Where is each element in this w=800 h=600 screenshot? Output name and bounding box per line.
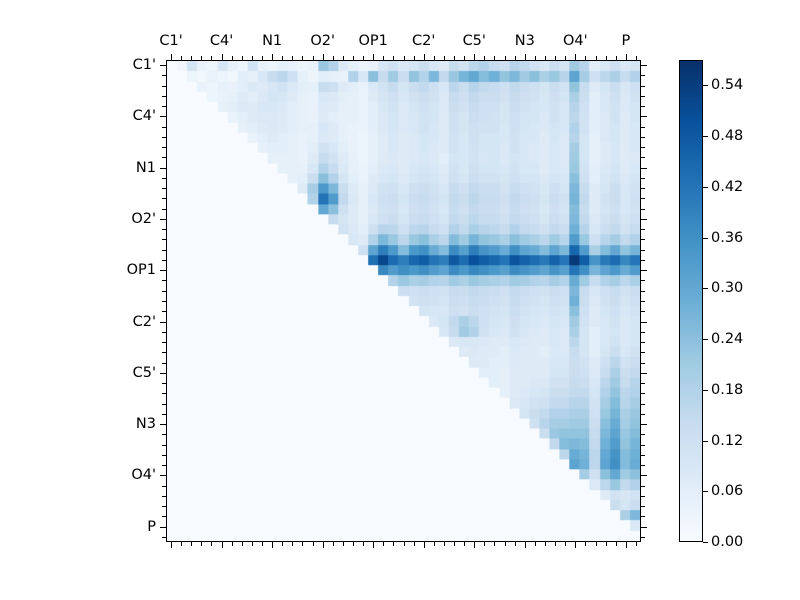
x-tick: [414, 542, 415, 546]
y-tick: [641, 516, 645, 517]
x-tick: [585, 542, 586, 546]
x-tick: [444, 56, 445, 60]
x-tick-label: C1': [159, 33, 182, 49]
x-tick: [323, 54, 324, 60]
y-tick-label: C5': [0, 365, 156, 381]
x-tick: [211, 542, 212, 546]
colorbar-tick: [703, 85, 708, 86]
x-tick: [252, 542, 253, 546]
x-tick: [565, 542, 566, 546]
y-tick: [641, 229, 645, 230]
x-tick-label: C4': [210, 33, 233, 49]
y-tick: [641, 188, 645, 189]
x-tick: [464, 56, 465, 60]
y-tick: [162, 383, 166, 384]
x-tick: [575, 54, 576, 60]
colorbar-tick-label: 0.54: [711, 77, 743, 93]
x-tick: [232, 56, 233, 60]
y-tick: [641, 157, 645, 158]
y-tick: [162, 147, 166, 148]
x-tick: [545, 56, 546, 60]
x-tick: [596, 542, 597, 546]
y-tick: [160, 373, 166, 374]
colorbar[interactable]: [679, 60, 703, 542]
x-tick: [596, 56, 597, 60]
y-tick: [162, 96, 166, 97]
y-tick: [641, 280, 645, 281]
x-tick: [636, 56, 637, 60]
y-tick: [641, 96, 645, 97]
y-tick-label: C4': [0, 108, 156, 124]
y-tick: [641, 455, 645, 456]
x-tick: [171, 542, 172, 548]
y-tick: [641, 86, 645, 87]
x-tick: [535, 56, 536, 60]
x-tick: [505, 542, 506, 546]
y-tick: [641, 260, 645, 261]
y-tick: [641, 475, 647, 476]
y-tick: [160, 527, 166, 528]
x-tick: [191, 542, 192, 546]
y-tick-label: N1: [0, 160, 156, 176]
x-tick-label: N1: [262, 33, 282, 49]
colorbar-tick: [703, 187, 708, 188]
y-tick: [641, 147, 645, 148]
y-tick: [162, 301, 166, 302]
x-tick: [201, 56, 202, 60]
x-tick: [333, 542, 334, 546]
x-tick: [343, 542, 344, 546]
y-tick: [641, 270, 647, 271]
x-tick: [404, 56, 405, 60]
y-tick: [641, 106, 645, 107]
y-tick-label: P: [0, 519, 156, 535]
y-tick: [162, 352, 166, 353]
y-tick: [162, 496, 166, 497]
colorbar-tick: [703, 390, 708, 391]
x-tick: [353, 56, 354, 60]
x-tick: [353, 542, 354, 546]
y-tick: [160, 116, 166, 117]
y-tick: [641, 209, 645, 210]
colorbar-tick-label: 0.48: [711, 128, 743, 144]
y-tick: [162, 75, 166, 76]
y-tick: [162, 127, 166, 128]
x-tick: [414, 56, 415, 60]
y-tick: [641, 332, 645, 333]
x-tick-label: C2': [412, 33, 435, 49]
y-tick: [162, 486, 166, 487]
colorbar-tick-label: 0.42: [711, 179, 743, 195]
y-tick: [641, 198, 645, 199]
colorbar-tick: [703, 288, 708, 289]
x-tick: [282, 542, 283, 546]
colorbar-tick-label: 0.06: [711, 483, 743, 499]
y-tick: [162, 209, 166, 210]
x-tick: [434, 56, 435, 60]
y-tick: [641, 127, 645, 128]
x-tick: [363, 542, 364, 546]
y-tick: [641, 322, 647, 323]
colorbar-tick: [703, 441, 708, 442]
y-tick: [162, 291, 166, 292]
y-tick: [641, 527, 647, 528]
y-tick-label: O2': [0, 211, 156, 227]
x-tick: [211, 56, 212, 60]
y-tick: [162, 404, 166, 405]
x-tick: [363, 56, 364, 60]
y-tick: [641, 465, 645, 466]
x-tick: [555, 542, 556, 546]
y-tick: [162, 516, 166, 517]
x-tick: [343, 56, 344, 60]
x-tick: [555, 56, 556, 60]
y-tick: [162, 178, 166, 179]
x-tick: [606, 56, 607, 60]
x-tick: [626, 542, 627, 548]
y-tick: [641, 219, 647, 220]
y-tick: [162, 157, 166, 158]
x-tick: [585, 56, 586, 60]
x-tick: [282, 56, 283, 60]
y-tick: [641, 373, 647, 374]
y-tick: [160, 270, 166, 271]
x-tick: [272, 54, 273, 60]
x-tick: [272, 542, 273, 548]
y-tick: [641, 393, 645, 394]
x-tick: [424, 542, 425, 548]
x-tick: [373, 54, 374, 60]
x-tick: [333, 56, 334, 60]
x-tick-label: O2': [310, 33, 335, 49]
y-tick: [162, 434, 166, 435]
x-tick: [424, 54, 425, 60]
x-tick-label: N3: [515, 33, 535, 49]
x-tick: [171, 54, 172, 60]
y-tick: [641, 291, 645, 292]
y-tick: [641, 404, 645, 405]
x-tick: [484, 542, 485, 546]
x-tick: [494, 56, 495, 60]
y-tick: [160, 424, 166, 425]
y-tick-label: N3: [0, 416, 156, 432]
y-tick: [162, 342, 166, 343]
y-tick: [162, 445, 166, 446]
colorbar-tick-label: 0.18: [711, 382, 743, 398]
y-tick: [641, 414, 645, 415]
colorbar-tick-label: 0.24: [711, 331, 743, 347]
x-tick: [525, 542, 526, 548]
x-tick: [515, 542, 516, 546]
y-tick-label: C2': [0, 314, 156, 330]
colorbar-tick: [703, 491, 708, 492]
x-tick: [545, 542, 546, 546]
heatmap-axes[interactable]: [166, 60, 641, 542]
colorbar-tick-label: 0.00: [711, 534, 743, 550]
y-tick: [641, 496, 645, 497]
colorbar-tick-label: 0.12: [711, 433, 743, 449]
y-tick: [641, 506, 645, 507]
y-tick-label: C1': [0, 57, 156, 73]
x-tick: [565, 56, 566, 60]
x-tick: [616, 542, 617, 546]
x-tick-label: OP1: [358, 33, 387, 49]
x-tick: [606, 542, 607, 546]
x-tick: [302, 56, 303, 60]
y-tick: [641, 250, 645, 251]
x-tick: [515, 56, 516, 60]
x-tick: [454, 542, 455, 546]
y-tick: [160, 168, 166, 169]
x-tick-label: O4': [563, 33, 588, 49]
x-tick: [484, 56, 485, 60]
x-tick: [494, 542, 495, 546]
y-tick: [162, 363, 166, 364]
y-tick: [641, 352, 645, 353]
x-tick: [383, 542, 384, 546]
figure-canvas: C1'C4'N1O2'OP1C2'C5'N3O4'P C1'C4'N1O2'OP…: [0, 0, 800, 600]
colorbar-tick: [703, 542, 708, 543]
y-tick: [641, 383, 645, 384]
x-tick: [252, 56, 253, 60]
x-tick: [323, 542, 324, 548]
y-tick: [641, 311, 645, 312]
x-tick: [464, 542, 465, 546]
y-tick: [641, 239, 645, 240]
x-tick-label: C5': [463, 33, 486, 49]
colorbar-tick: [703, 136, 708, 137]
y-tick: [641, 168, 647, 169]
x-tick: [222, 542, 223, 548]
x-tick: [232, 542, 233, 546]
x-tick: [313, 542, 314, 546]
x-tick: [222, 54, 223, 60]
y-tick: [641, 301, 645, 302]
x-tick: [313, 56, 314, 60]
y-tick: [162, 465, 166, 466]
y-tick-label: O4': [0, 467, 156, 483]
y-tick: [641, 178, 645, 179]
x-tick: [505, 56, 506, 60]
x-tick: [292, 56, 293, 60]
y-tick: [162, 188, 166, 189]
y-tick: [162, 537, 166, 538]
y-tick: [641, 65, 647, 66]
x-tick: [444, 542, 445, 546]
y-tick: [162, 239, 166, 240]
x-tick: [575, 542, 576, 548]
y-tick: [160, 475, 166, 476]
y-tick: [162, 455, 166, 456]
x-tick: [636, 542, 637, 546]
y-tick: [162, 106, 166, 107]
y-tick: [162, 332, 166, 333]
y-tick: [162, 506, 166, 507]
y-tick: [162, 229, 166, 230]
x-tick: [262, 56, 263, 60]
y-tick-label: OP1: [0, 262, 156, 278]
y-tick: [162, 198, 166, 199]
heatmap-grid[interactable]: [167, 61, 640, 541]
x-tick: [474, 542, 475, 548]
y-tick: [160, 219, 166, 220]
y-tick: [160, 65, 166, 66]
x-tick: [535, 542, 536, 546]
y-tick: [162, 86, 166, 87]
y-tick: [641, 424, 647, 425]
x-tick: [292, 542, 293, 546]
x-tick: [373, 542, 374, 548]
y-tick: [162, 280, 166, 281]
y-tick: [641, 486, 645, 487]
x-tick: [242, 542, 243, 546]
y-tick: [641, 445, 645, 446]
colorbar-tick: [703, 339, 708, 340]
colorbar-tick: [703, 238, 708, 239]
y-tick: [160, 322, 166, 323]
x-tick: [383, 56, 384, 60]
x-tick: [262, 542, 263, 546]
x-tick: [393, 56, 394, 60]
colorbar-tick-label: 0.30: [711, 280, 743, 296]
y-tick: [641, 434, 645, 435]
y-tick: [641, 363, 645, 364]
x-tick: [181, 56, 182, 60]
x-tick: [191, 56, 192, 60]
x-tick: [474, 54, 475, 60]
y-tick: [641, 342, 645, 343]
y-tick: [162, 311, 166, 312]
y-tick: [162, 414, 166, 415]
y-tick: [162, 137, 166, 138]
x-tick: [181, 542, 182, 546]
x-tick: [242, 56, 243, 60]
x-tick: [393, 542, 394, 546]
y-tick: [162, 260, 166, 261]
y-tick: [641, 75, 645, 76]
y-tick: [162, 250, 166, 251]
x-tick: [454, 56, 455, 60]
colorbar-tick-label: 0.36: [711, 230, 743, 246]
x-tick: [404, 542, 405, 546]
x-tick: [302, 542, 303, 546]
y-tick: [162, 393, 166, 394]
y-tick: [641, 137, 645, 138]
colorbar-gradient: [680, 61, 702, 541]
y-tick: [641, 537, 645, 538]
x-tick: [525, 54, 526, 60]
x-tick: [616, 56, 617, 60]
y-tick: [641, 116, 647, 117]
x-tick: [201, 542, 202, 546]
x-tick: [434, 542, 435, 546]
x-tick: [626, 54, 627, 60]
x-tick-label: P: [621, 33, 630, 49]
